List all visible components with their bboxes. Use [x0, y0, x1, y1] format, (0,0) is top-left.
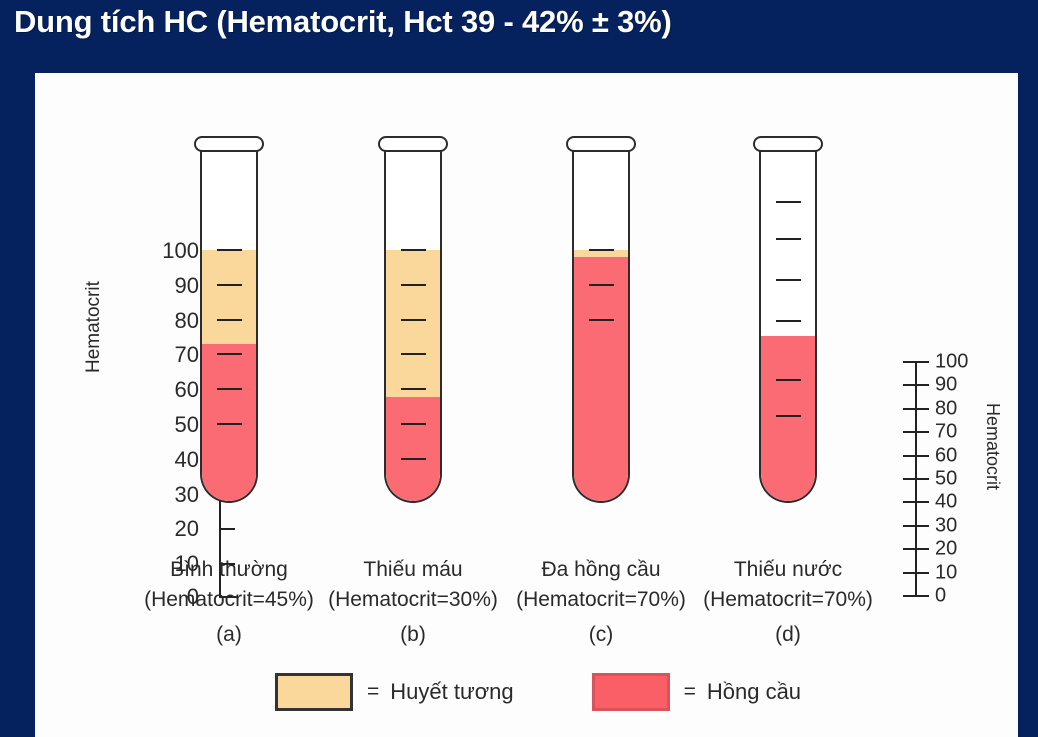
axis-label-80: 80	[175, 308, 199, 334]
legend-equals: =	[367, 680, 379, 704]
tube-graduation	[401, 458, 426, 460]
axis-label-40: 40	[935, 491, 957, 514]
caption-title: Thiếu nước	[734, 558, 842, 581]
legend: = Huyết tương = Hồng cầu	[275, 668, 801, 716]
tube-graduation	[217, 423, 242, 425]
caption-value: (Hematocrit=70%)	[673, 585, 903, 615]
tube-graduation	[401, 388, 426, 390]
axis-tick	[219, 528, 235, 530]
tube-rim	[378, 136, 448, 152]
tube-graduation	[217, 353, 242, 355]
tube-rim	[753, 136, 823, 152]
tube-graduation	[776, 379, 801, 381]
axis-tick	[903, 455, 929, 457]
tube-graduation	[401, 423, 426, 425]
tube-graduation	[776, 320, 801, 322]
axis-label-100: 100	[162, 238, 199, 264]
axis-label-40: 40	[175, 447, 199, 473]
legend-label-plasma: Huyết tương	[390, 679, 513, 705]
axis-label-60: 60	[175, 377, 199, 403]
axis-label-50: 50	[935, 468, 957, 491]
tube-graduation	[217, 249, 242, 251]
caption-title: Đa hồng cầu	[541, 558, 660, 581]
caption-tube-d: Thiếu nước (Hematocrit=70%) (d)	[673, 555, 903, 650]
axis-tick	[903, 384, 929, 386]
caption-title: Thiếu máu	[363, 558, 462, 581]
tube-graduation	[776, 415, 801, 417]
axis-label-30: 30	[175, 482, 199, 508]
red-cell-swatch	[592, 673, 670, 711]
axis-label-90: 90	[175, 273, 199, 299]
axis-tick	[903, 501, 929, 503]
tube-graduation	[217, 388, 242, 390]
legend-item-red-cells: = Hồng cầu	[592, 673, 801, 711]
caption-title: Bình thường	[170, 558, 288, 581]
tube-graduation	[217, 319, 242, 321]
axis-label-0: 0	[935, 585, 946, 608]
tube-graduation	[776, 238, 801, 240]
axis-tick	[903, 525, 929, 527]
figure-panel: 100 90 80 70 60 50 40 30 20 10 0 Hematoc…	[35, 73, 1018, 737]
tube-graduation	[776, 201, 801, 203]
axis-label-20: 20	[935, 538, 957, 561]
axis-label-80: 80	[935, 397, 957, 420]
axis-tick	[903, 595, 929, 597]
plasma-swatch	[275, 673, 353, 711]
tube-graduation	[776, 279, 801, 281]
axis-label-60: 60	[935, 444, 957, 467]
caption-panel-letter: (d)	[673, 620, 903, 650]
page-title: Dung tích HC (Hematocrit, Hct 39 - 42% ±…	[14, 0, 1038, 48]
red-cell-fill	[761, 336, 815, 501]
tube-graduation	[217, 284, 242, 286]
axis-label-50: 50	[175, 412, 199, 438]
axis-label-20: 20	[175, 516, 199, 542]
axis-label-100: 100	[935, 351, 968, 374]
axis-label-90: 90	[935, 374, 957, 397]
red-cell-fill	[386, 397, 440, 501]
axis-tick	[903, 431, 929, 433]
red-cell-fill	[574, 257, 628, 501]
tube-graduation	[589, 284, 614, 286]
axis-label-70: 70	[935, 421, 957, 444]
axis-tick	[903, 478, 929, 480]
tube-graduation	[589, 249, 614, 251]
tube-graduation	[401, 249, 426, 251]
legend-item-plasma: = Huyết tương	[275, 673, 514, 711]
tube-graduation	[401, 284, 426, 286]
axis-label-30: 30	[935, 514, 957, 537]
tube-graduation	[401, 353, 426, 355]
right-hematocrit-axis: 100 90 80 70 60 50 40 30 20 10 0	[915, 361, 985, 597]
tube-graduation	[401, 319, 426, 321]
legend-label-red-cells: Hồng cầu	[707, 679, 801, 705]
right-axis-title: Hematocrit	[982, 403, 1003, 490]
tube-body	[200, 145, 258, 503]
axis-tick	[903, 361, 929, 363]
axis-label-10: 10	[935, 561, 957, 584]
axis-label-70: 70	[175, 342, 199, 368]
tube-body	[759, 145, 817, 503]
axis-tick	[903, 572, 929, 574]
axis-tick	[903, 548, 929, 550]
tube-rim	[566, 136, 636, 152]
tube-body	[572, 145, 630, 503]
legend-equals: =	[684, 680, 696, 704]
left-axis-title: Hematocrit	[83, 281, 105, 373]
tube-graduation	[589, 319, 614, 321]
axis-tick	[903, 408, 929, 410]
tube-rim	[194, 136, 264, 152]
tube-body	[384, 145, 442, 503]
